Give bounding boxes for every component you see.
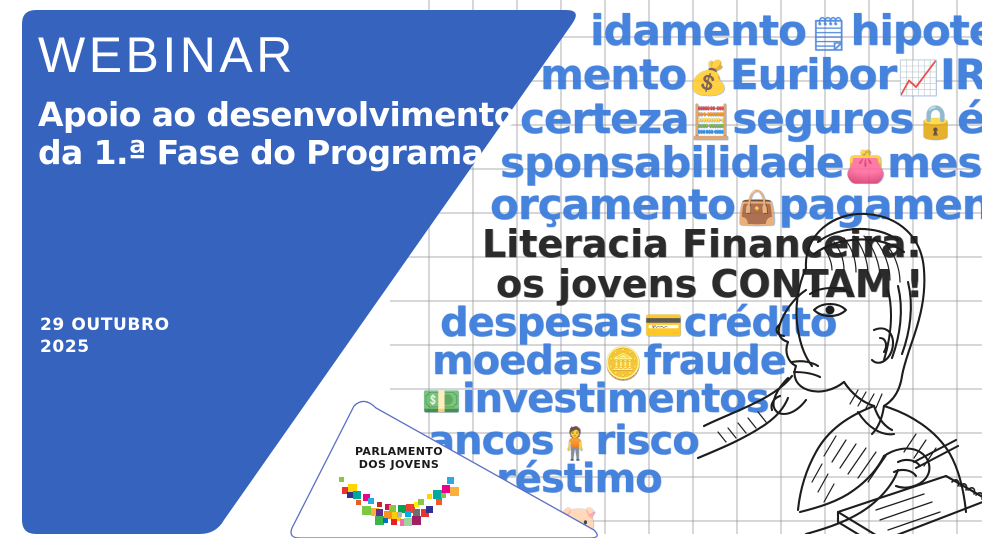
mosaic-v-icon [340, 477, 458, 533]
webinar-poster: idamento🗒hipoteca mento💰Euribor📈IRS👥 cer… [0, 0, 982, 552]
poster-title: Apoio ao desenvolvimento da 1.ª Fase do … [38, 96, 516, 172]
cloud-row-3: certeza🧮seguros🔒ética [520, 94, 982, 143]
cloud-row-2: mento💰Euribor📈IRS👥 [540, 50, 982, 99]
cloud-word: seguros [732, 94, 913, 143]
cloud-word: IRS [940, 50, 982, 99]
cloud-word: idamento [590, 6, 806, 55]
poster-title-line-1: Apoio ao desenvolvimento [38, 96, 516, 134]
cloud-word: hipoteca [850, 6, 982, 55]
logo-name-line-2: DOS JOVENS [334, 459, 464, 472]
chart-icon: 📈 [896, 59, 940, 97]
cloud-word: ética [957, 94, 982, 143]
money-bag-icon: 💰 [686, 59, 730, 97]
cloud-row-1: idamento🗒hipoteca [590, 6, 982, 55]
clipboard-icon: 🗒 [806, 15, 851, 53]
parlamento-dos-jovens-logo: PARLAMENTO DOS JOVENS [334, 446, 464, 533]
cloud-word: Euribor [730, 50, 896, 99]
lock-icon: 🔒 [913, 103, 957, 141]
cloud-word: certeza [520, 94, 688, 143]
calculator-icon: 🧮 [688, 103, 732, 141]
thinking-student-sketch [688, 190, 982, 534]
logo-name-line-1: PARLAMENTO [334, 446, 464, 459]
kicker-webinar: WEBINAR [38, 28, 296, 82]
event-date-year: 2025 [40, 336, 170, 358]
logo-card: PARLAMENTO DOS JOVENS [284, 398, 604, 538]
poster-title-line-2: da 1.ª Fase do Programa [38, 134, 516, 172]
event-date-day-month: 29 OUTUBRO [40, 314, 170, 336]
event-date: 29 OUTUBRO 2025 [40, 314, 170, 358]
cloud-word: mento [540, 50, 686, 99]
